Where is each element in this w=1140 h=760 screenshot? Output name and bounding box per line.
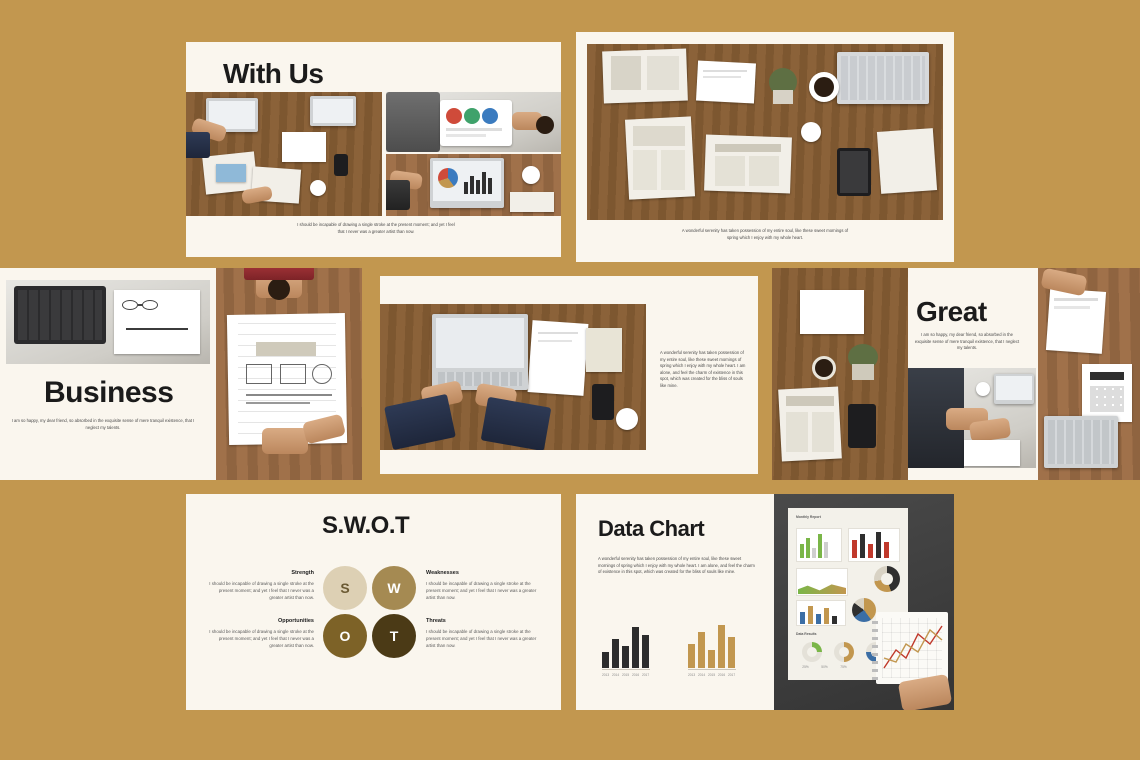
bar-chart-dark [602, 616, 649, 668]
photo-tablet-charts-hands [386, 92, 561, 152]
bar-2015 [622, 646, 629, 668]
swot-heading-opportunities: Opportunities [206, 618, 314, 624]
bar-gold-2014 [698, 632, 705, 668]
slide-title-great: Great [916, 296, 987, 328]
slide-business[interactable]: Business I am so happy, my dear friend, … [0, 268, 362, 480]
bar-2016 [632, 627, 639, 668]
slide-workspace[interactable]: A wonderful serenity has taken possessio… [576, 32, 954, 262]
donut-label-75: 75% [840, 665, 847, 669]
slide-title-with-us: With Us [223, 58, 323, 90]
swot-letter-t: T [390, 628, 399, 644]
slide-caption-business: I am so happy, my dear friend, so absorb… [10, 418, 196, 431]
bar-2017 [642, 635, 649, 668]
bar-2014 [612, 639, 619, 668]
bar-chart-dark-xlabels: 2013 2014 2015 2016 2017 [602, 673, 649, 677]
bar-gold-2013 [688, 644, 695, 668]
swot-circle-strength[interactable]: S [323, 566, 367, 610]
photo-wooden-desk-flatlay [587, 44, 943, 220]
slide-swot[interactable]: S.W.O.T S W O T Strength I should be inc… [186, 494, 561, 710]
slide-great[interactable]: Great I am so happy, my dear friend, so … [772, 268, 1140, 480]
donut-label-25: 25% [802, 665, 809, 669]
slide-with-us[interactable]: With Us [186, 42, 561, 257]
board-heading-top: Monthly Report [796, 515, 821, 519]
donut-label-50: 50% [821, 665, 828, 669]
slide-caption-data-chart: A wonderful serenity has taken possessio… [598, 556, 758, 576]
swot-circle-opportunities[interactable]: O [323, 614, 367, 658]
bar-chart-gold [688, 616, 735, 668]
percent-donut-labels: 25% 50% 75% [802, 665, 847, 669]
xlabel-gold-2017: 2017 [728, 673, 735, 677]
swot-text-strength: I should be incapable of drawing a singl… [206, 580, 314, 601]
slide-title-data-chart: Data Chart [598, 516, 704, 542]
xlabel-gold-2015: 2015 [708, 673, 715, 677]
xlabel-2017: 2017 [642, 673, 649, 677]
xlabel-gold-2014: 2014 [698, 673, 705, 677]
photo-handshake-meeting [908, 368, 1036, 468]
slide-title-business: Business [44, 376, 173, 410]
xlabel-2013: 2013 [602, 673, 609, 677]
photo-desk-plant-notebook [772, 268, 908, 480]
bar-gold-2015 [708, 650, 715, 668]
photo-hands-coffee-sketch-notes [216, 268, 362, 480]
board-heading-bottom: Data Results [796, 632, 817, 636]
photo-infographic-report-notebook: Monthly Report [774, 494, 954, 710]
slide-caption-with-us: I should be incapable of drawing a singl… [296, 222, 456, 235]
xlabel-2016: 2016 [632, 673, 639, 677]
line-chart-svg [876, 612, 948, 684]
xlabel-gold-2013: 2013 [688, 673, 695, 677]
bar-2013 [602, 652, 609, 668]
slide-title-swot: S.W.O.T [322, 512, 409, 540]
swot-text-opportunities: I should be incapable of drawing a singl… [206, 628, 314, 649]
xlabel-2015: 2015 [622, 673, 629, 677]
bar-chart-dark-baseline [602, 669, 650, 670]
swot-heading-threats: Threats [426, 618, 540, 624]
slide-laptop-feature[interactable]: A wonderful serenity has taken possessio… [380, 276, 758, 474]
photo-meeting-table-overhead [186, 92, 382, 216]
swot-heading-strength: Strength [206, 570, 314, 576]
xlabel-2014: 2014 [612, 673, 619, 677]
photo-laptop-dashboard-desk [386, 154, 561, 216]
swot-letter-o: O [340, 628, 351, 644]
photo-glasses-keyboard-notebook [6, 280, 210, 364]
slide-data-chart[interactable]: Data Chart A wonderful serenity has take… [576, 494, 954, 710]
swot-text-threats: I should be incapable of drawing a singl… [426, 628, 540, 649]
bar-gold-2017 [728, 637, 735, 668]
swot-letter-s: S [340, 580, 349, 596]
bar-gold-2016 [718, 625, 725, 668]
swot-circle-threats[interactable]: T [372, 614, 416, 658]
swot-heading-weaknesses: Weaknesses [426, 570, 540, 576]
swot-circle-weaknesses[interactable]: W [372, 566, 416, 610]
bar-chart-gold-baseline [688, 669, 736, 670]
notebook-line-chart [876, 612, 948, 684]
bar-chart-gold-xlabels: 2013 2014 2015 2016 2017 [688, 673, 735, 677]
slide-caption-workspace: A wonderful serenity has taken possessio… [680, 228, 850, 241]
slide-caption-great: I am so happy, my dear friend, so absorb… [914, 332, 1020, 352]
xlabel-gold-2016: 2016 [718, 673, 725, 677]
swot-text-weaknesses: I should be incapable of drawing a singl… [426, 580, 540, 601]
photo-man-typing-laptop-overhead [380, 304, 646, 450]
slide-caption-laptop-feature: A wonderful serenity has taken possessio… [660, 350, 748, 389]
photo-calendar-laptop-desk [1038, 268, 1140, 480]
swot-letter-w: W [387, 580, 400, 596]
presentation-preview-canvas: With Us [0, 0, 1140, 760]
